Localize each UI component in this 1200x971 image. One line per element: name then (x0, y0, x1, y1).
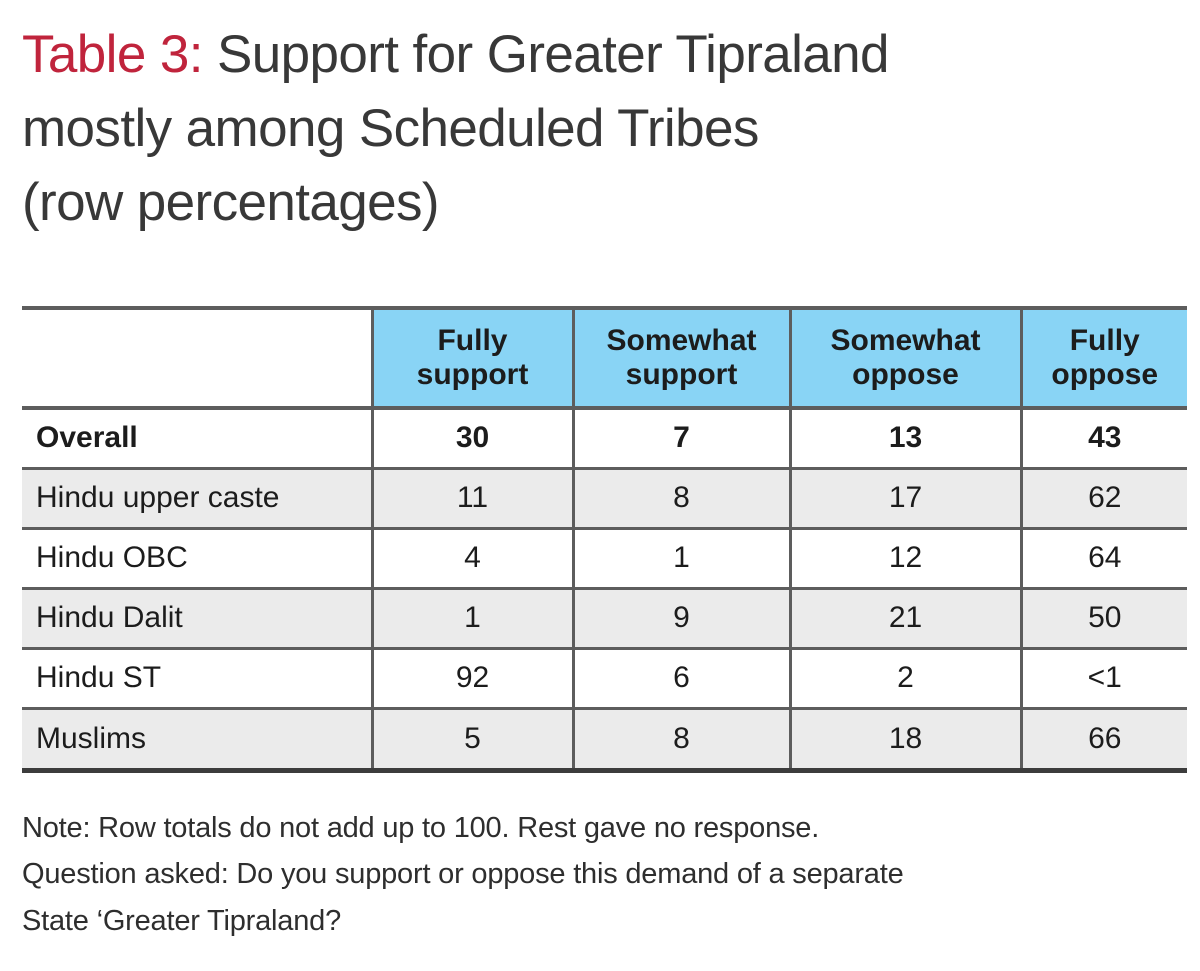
cell-somewhat-oppose: 12 (790, 528, 1021, 588)
cell-fully-oppose: 64 (1021, 528, 1187, 588)
column-header-line-1: Fully (437, 324, 507, 357)
cell-somewhat-support: 9 (573, 588, 790, 648)
cell-fully-oppose: <1 (1021, 648, 1187, 708)
table-bottom-rule (22, 768, 1187, 773)
row-label: Hindu Dalit (22, 588, 372, 648)
cell-fully-support: 1 (372, 588, 573, 648)
column-header-line-2: oppose (1051, 358, 1158, 391)
table-row: Hindu Dalit 1 9 21 50 (22, 588, 1187, 648)
row-label: Overall (22, 408, 372, 468)
cell-somewhat-support: 6 (573, 648, 790, 708)
cell-fully-support: 4 (372, 528, 573, 588)
note-line-1: Note: Row totals do not add up to 100. R… (22, 805, 1182, 851)
table-header-row: Fully support Somewhat support Somewhat … (22, 310, 1187, 408)
cell-somewhat-oppose: 18 (790, 708, 1021, 768)
column-header-line-2: oppose (852, 358, 959, 391)
cell-somewhat-oppose: 13 (790, 408, 1021, 468)
table-body: Overall 30 7 13 43 Hindu upper caste 11 … (22, 408, 1187, 768)
note-line-3: State ‘Greater Tipraland? (22, 898, 1182, 944)
support-table: Fully support Somewhat support Somewhat … (22, 310, 1187, 768)
table-row: Hindu OBC 4 1 12 64 (22, 528, 1187, 588)
column-header-line-1: Somewhat (830, 324, 980, 357)
table-corner-header (22, 310, 372, 408)
title-table-label: Table 3: (22, 25, 203, 84)
cell-somewhat-support: 8 (573, 708, 790, 768)
cell-fully-support: 92 (372, 648, 573, 708)
column-header-fully-oppose: Fully oppose (1021, 310, 1187, 408)
column-header-line-1: Fully (1070, 324, 1140, 357)
cell-somewhat-support: 8 (573, 468, 790, 528)
cell-fully-oppose: 66 (1021, 708, 1187, 768)
column-header-line-2: support (626, 358, 738, 391)
row-label: Hindu upper caste (22, 468, 372, 528)
cell-somewhat-support: 7 (573, 408, 790, 468)
table-row: Muslims 5 8 18 66 (22, 708, 1187, 768)
cell-somewhat-oppose: 17 (790, 468, 1021, 528)
cell-fully-oppose: 43 (1021, 408, 1187, 468)
row-label: Hindu ST (22, 648, 372, 708)
page-title: Table 3: Support for Greater Tipraland m… (22, 18, 1182, 241)
cell-fully-support: 5 (372, 708, 573, 768)
title-line-3: (row percentages) (22, 173, 439, 232)
column-header-somewhat-support: Somewhat support (573, 310, 790, 408)
table-header: Fully support Somewhat support Somewhat … (22, 310, 1187, 408)
title-line-2: mostly among Scheduled Tribes (22, 99, 759, 158)
cell-somewhat-oppose: 2 (790, 648, 1021, 708)
cell-somewhat-support: 1 (573, 528, 790, 588)
cell-fully-support: 11 (372, 468, 573, 528)
table-row: Hindu ST 92 6 2 <1 (22, 648, 1187, 708)
row-label: Muslims (22, 708, 372, 768)
column-header-line-2: support (417, 358, 529, 391)
column-header-fully-support: Fully support (372, 310, 573, 408)
note-line-2: Question asked: Do you support or oppose… (22, 851, 1182, 897)
data-table-container: Fully support Somewhat support Somewhat … (22, 306, 1187, 773)
row-label: Hindu OBC (22, 528, 372, 588)
cell-fully-oppose: 62 (1021, 468, 1187, 528)
cell-fully-support: 30 (372, 408, 573, 468)
table-note: Note: Row totals do not add up to 100. R… (22, 805, 1182, 944)
cell-fully-oppose: 50 (1021, 588, 1187, 648)
title-line-1: Support for Greater Tipraland (203, 25, 889, 84)
cell-somewhat-oppose: 21 (790, 588, 1021, 648)
table-row: Hindu upper caste 11 8 17 62 (22, 468, 1187, 528)
column-header-somewhat-oppose: Somewhat oppose (790, 310, 1021, 408)
table-row: Overall 30 7 13 43 (22, 408, 1187, 468)
column-header-line-1: Somewhat (606, 324, 756, 357)
